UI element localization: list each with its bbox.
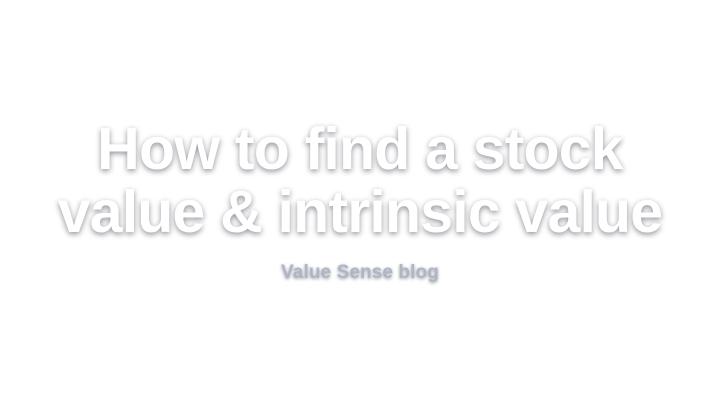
banner-content: How to find a stock value & intrinsic va… [0,118,720,285]
blog-cover-banner: How to find a stock value & intrinsic va… [0,0,720,420]
banner-subtitle: Value Sense blog [0,261,720,285]
page-title: How to find a stock value & intrinsic va… [0,118,720,244]
